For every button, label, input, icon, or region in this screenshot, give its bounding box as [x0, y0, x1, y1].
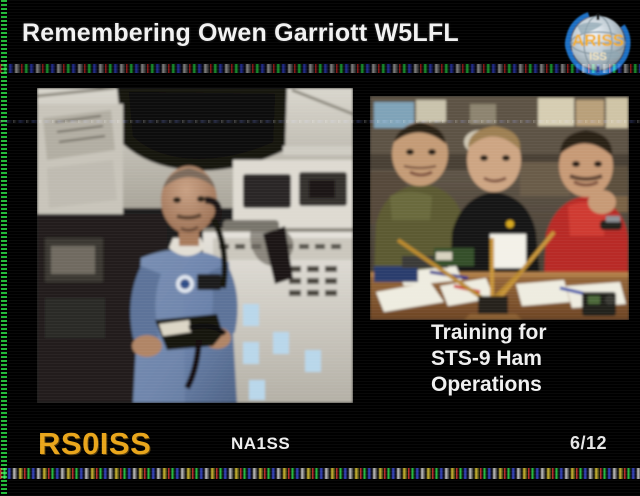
callsign-secondary: NA1SS [231, 434, 290, 454]
sstv-image-frame: Remembering Owen Garriott W5LFL [0, 0, 640, 496]
caption-line-3: Operations [431, 372, 547, 398]
caption-line-1: Training for [431, 320, 547, 346]
frame-counter: 6/12 [570, 433, 607, 454]
ham-training-illustration [370, 96, 629, 320]
sstv-sync-stripe-left [1, 0, 7, 496]
photo-sts9-ham-training [370, 96, 629, 320]
callsign-primary: RS0ISS [38, 426, 151, 462]
ariss-logo-graphic: ARISS ISS [563, 8, 633, 78]
sstv-noise-line-top [0, 64, 640, 73]
caption-line-2: STS-9 Ham [431, 346, 547, 372]
sstv-noise-line-bottom [0, 468, 640, 479]
caption-block: Training for STS-9 Ham Operations [431, 320, 547, 398]
ariss-logo: ARISS ISS [563, 8, 633, 78]
shuttle-flight-deck-illustration [37, 88, 353, 403]
ariss-logo-primary-text: ARISS [572, 31, 624, 50]
ariss-logo-secondary-text: ISS [589, 51, 607, 63]
photo-owen-garriott-shuttle [37, 88, 353, 403]
page-title: Remembering Owen Garriott W5LFL [22, 19, 459, 48]
